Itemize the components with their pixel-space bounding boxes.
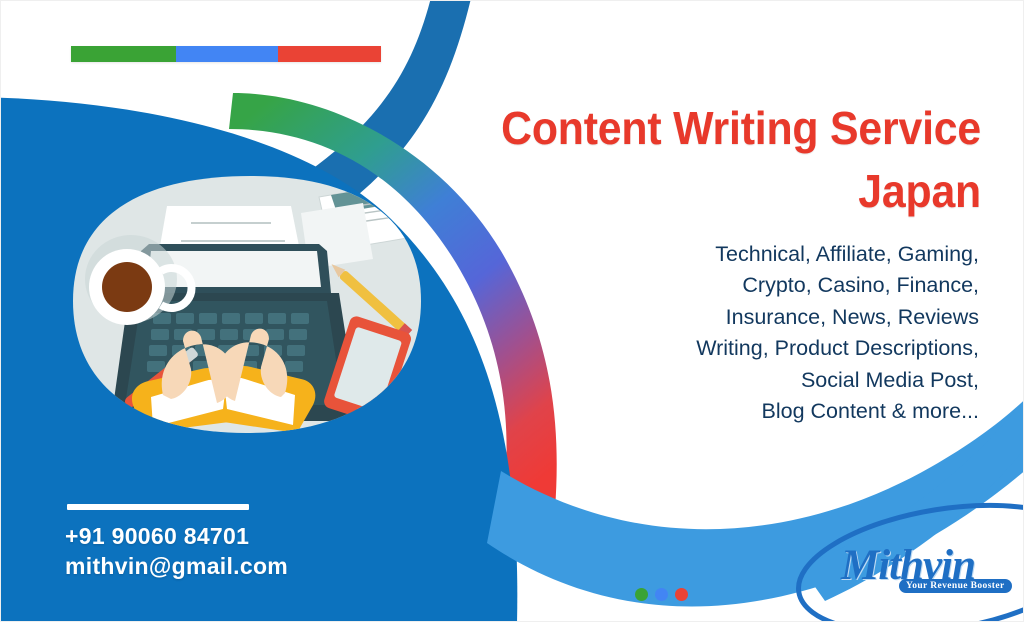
services-line: Blog Content & more... (559, 396, 979, 427)
headline-line-1: Content Writing Service (404, 97, 981, 160)
services-line: Insurance, News, Reviews (559, 302, 979, 333)
headline-line-2: Japan (404, 160, 981, 223)
contact-block: +91 90060 84701 mithvin@gmail.com (65, 522, 288, 582)
services-line: Social Media Post, (559, 365, 979, 396)
dot-red-icon (675, 588, 688, 601)
services-line: Writing, Product Descriptions, (559, 333, 979, 364)
color-dots (635, 588, 688, 601)
services-list: Technical, Affiliate, Gaming, Crypto, Ca… (559, 239, 979, 428)
dot-blue-icon (655, 588, 668, 601)
logo-tagline: Your Revenue Booster (899, 579, 1012, 593)
headline: Content Writing Service Japan (404, 97, 981, 222)
contact-divider-rule (67, 504, 249, 510)
phone-number[interactable]: +91 90060 84701 (65, 522, 288, 552)
bar-segment-blue (176, 46, 278, 62)
tricolor-accent-bar (71, 46, 381, 62)
business-card-banner: Content Writing Service Japan Technical,… (0, 0, 1024, 622)
services-line: Crypto, Casino, Finance, (559, 270, 979, 301)
bar-segment-green (71, 46, 176, 62)
services-line: Technical, Affiliate, Gaming, (559, 239, 979, 270)
brand-logo[interactable]: Mithvin Your Revenue Booster (807, 521, 1017, 617)
laptop-illustration (73, 176, 421, 433)
bar-segment-red (278, 46, 381, 62)
dot-green-icon (635, 588, 648, 601)
email-address[interactable]: mithvin@gmail.com (65, 552, 288, 582)
